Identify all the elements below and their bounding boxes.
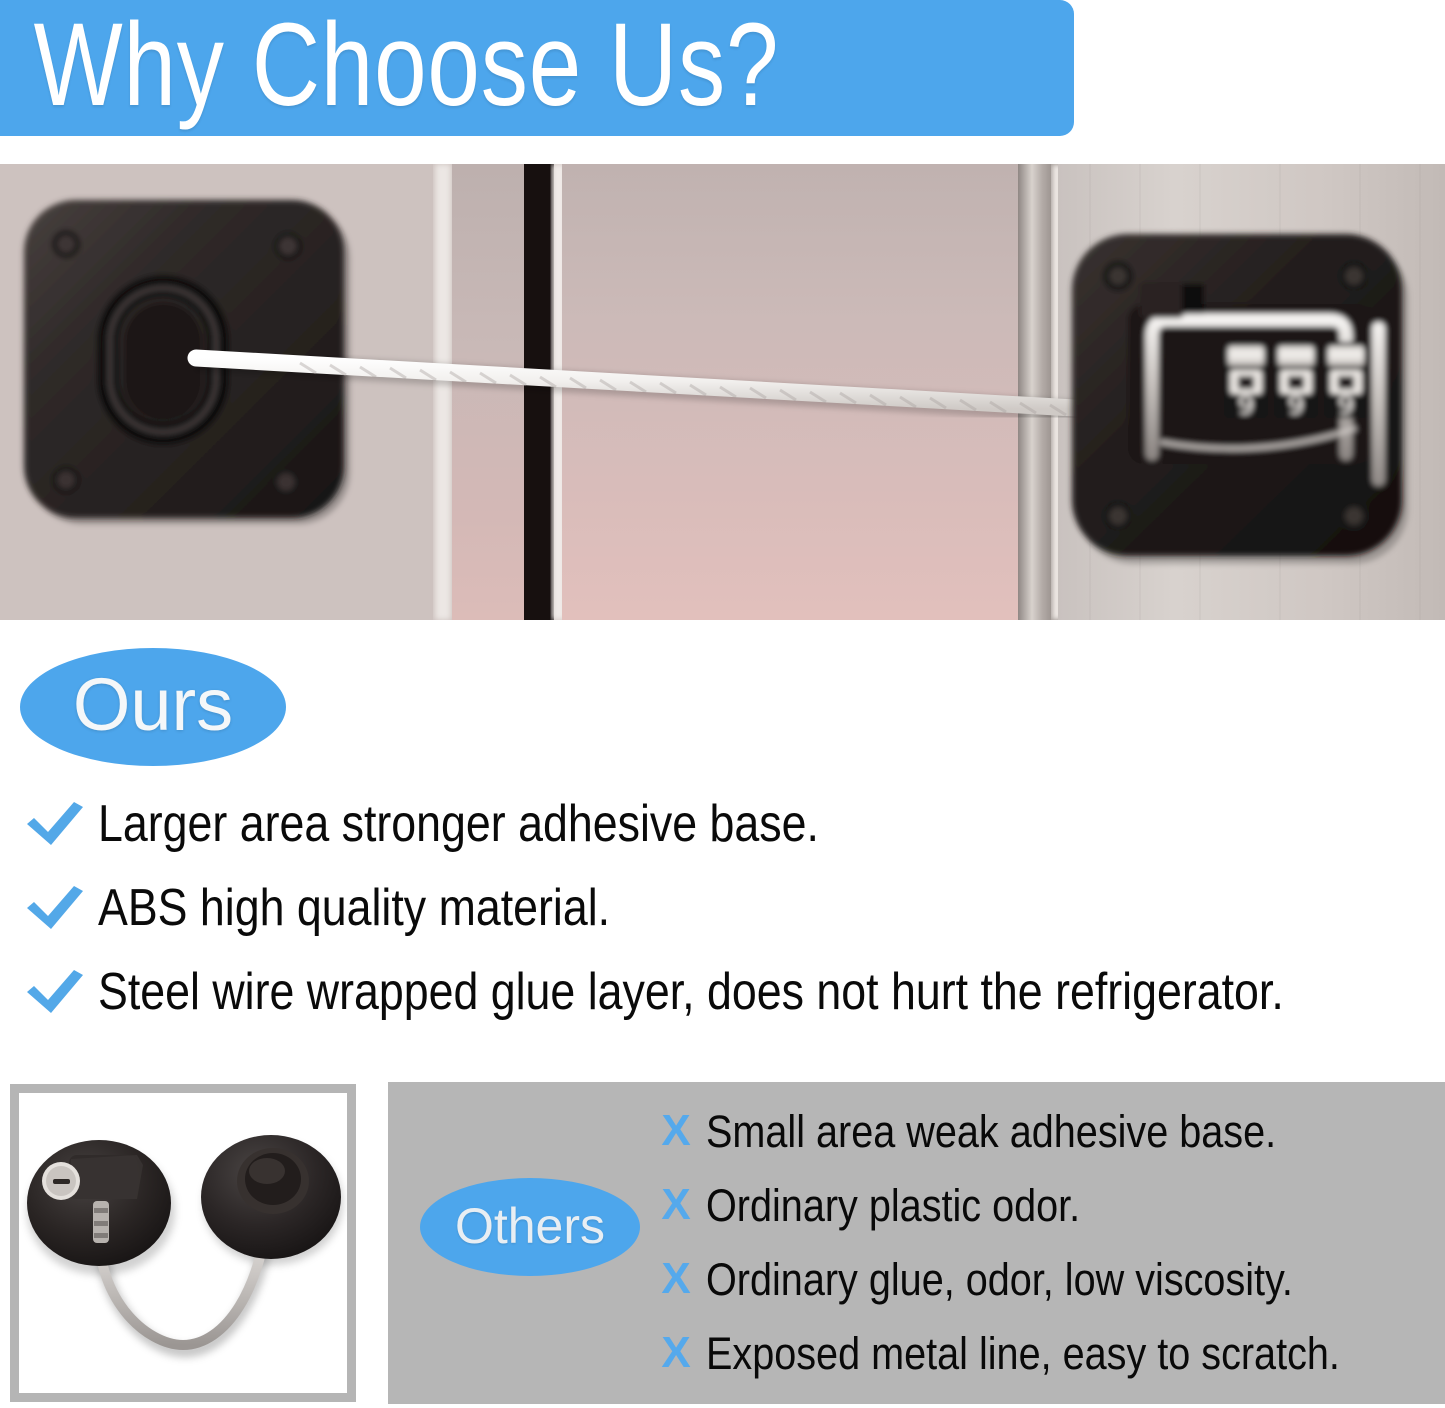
list-item: X Exposed metal line, easy to scratch. [658,1316,1445,1390]
hero-photo-illustration: 9 9 9 [0,164,1445,620]
ours-item-label: Steel wire wrapped glue layer, does not … [98,966,1284,1018]
x-icon: X [658,1257,694,1301]
ours-item-label: ABS high quality material. [98,882,610,934]
header-banner: Why Choose Us? [0,0,1074,136]
right-combination-lock-base: 9 9 9 [1072,234,1408,564]
others-panel: Others X Small area weak adhesive base. … [388,1082,1445,1404]
others-item-label: Ordinary plastic odor. [706,1183,1080,1228]
list-item: X Small area weak adhesive base. [658,1094,1445,1168]
x-icon: X [658,1109,694,1153]
svg-text:9: 9 [1338,391,1355,421]
combination-dials: 9 9 9 [1224,342,1368,421]
list-item: X Ordinary glue, odor, low viscosity. [658,1242,1445,1316]
x-icon: X [658,1183,694,1227]
check-icon [24,966,86,1018]
others-badge-label: Others [455,1201,605,1251]
svg-text:9: 9 [1238,391,1255,421]
list-item: X Ordinary plastic odor. [658,1168,1445,1242]
list-item: ABS high quality material. [24,866,1424,950]
competitor-product-photo [10,1084,356,1402]
list-item: Larger area stronger adhesive base. [24,782,1424,866]
competitor-photo-illustration [19,1093,347,1393]
check-icon [24,882,86,934]
ours-badge-label: Ours [73,668,233,742]
check-icon [24,798,86,850]
others-item-label: Ordinary glue, odor, low viscosity. [706,1257,1293,1302]
x-icon: X [658,1331,694,1375]
infographic-page: Why Choose Us? [0,0,1445,1408]
ours-badge: Ours [20,648,286,766]
ours-item-label: Larger area stronger adhesive base. [98,798,819,850]
hero-product-photo: 9 9 9 [0,164,1445,620]
others-item-label: Small area weak adhesive base. [706,1109,1276,1154]
list-item: Steel wire wrapped glue layer, does not … [24,950,1424,1034]
others-item-label: Exposed metal line, easy to scratch. [706,1331,1340,1376]
svg-text:9: 9 [1288,391,1305,421]
page-title: Why Choose Us? [0,6,779,124]
others-badge: Others [420,1178,640,1276]
others-drawback-list: X Small area weak adhesive base. X Ordin… [658,1094,1445,1390]
ours-feature-list: Larger area stronger adhesive base. ABS … [24,782,1424,1034]
